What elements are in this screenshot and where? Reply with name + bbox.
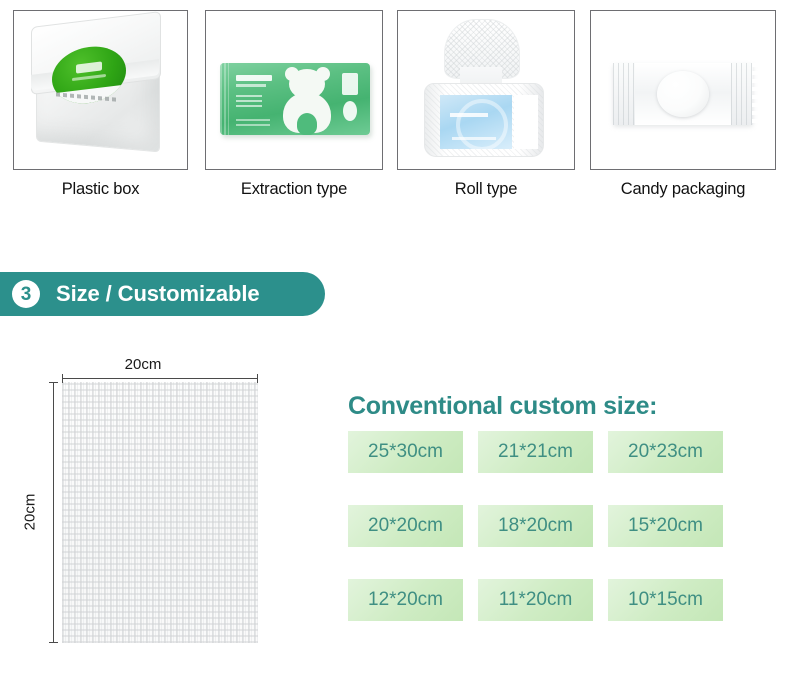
packaging-card-extraction-type[interactable] [205,10,383,170]
pack-right-oval-icon [343,101,357,121]
roll-label-face-icon [456,99,508,149]
section-title: Size / Customizable [56,281,259,307]
roll-label-title-glyph [450,113,488,117]
roll-label-subtitle-glyph [452,137,496,140]
size-chip-grid: 25*30cm 21*21cm 20*23cm 20*20cm 18*20cm … [348,431,774,621]
pack-crimp-left [220,63,229,135]
roll-blue-label [440,95,512,149]
size-chip[interactable]: 20*20cm [348,505,463,547]
packaging-card-roll-type[interactable] [397,10,575,170]
size-chip[interactable]: 21*21cm [478,431,593,473]
roll-pack-image [398,11,574,169]
extraction-pack-image [206,11,382,169]
size-chip[interactable]: 18*20cm [478,505,593,547]
extraction-pack-shape [220,63,370,135]
section-banner: 3 Size / Customizable [0,272,325,316]
height-dimension-label: 20cm [22,494,39,531]
packaging-label-extraction-type: Extraction type [198,180,390,199]
bear-belly [297,113,317,135]
size-chip[interactable]: 20*23cm [608,431,723,473]
width-dimension-line [62,378,258,379]
size-list-heading: Conventional custom size: [348,392,774,421]
packaging-card-plastic-box[interactable] [13,10,188,170]
fabric-swatch-image [62,382,258,643]
plastic-box-image [14,11,187,169]
wrapper-crimp-right [731,63,753,125]
packaging-label-roll-type: Roll type [397,180,575,199]
wrapper-crimp-left [613,63,635,125]
packaging-card-candy-packaging[interactable] [590,10,776,170]
size-chip[interactable]: 10*15cm [608,579,723,621]
pack-footer-text-glyph [236,119,270,128]
pack-body-text-glyph [236,95,262,109]
size-chip[interactable]: 25*30cm [348,431,463,473]
packaging-label-plastic-box: Plastic box [13,180,188,199]
pack-title-glyph [236,75,272,81]
pack-subtitle-glyph [236,84,266,87]
box-label-title-glyph [76,61,102,73]
width-dimension-label: 20cm [125,356,162,373]
packaging-gallery: Plastic box Extraction type [0,0,790,215]
size-chip[interactable]: 11*20cm [478,579,593,621]
size-list-panel: Conventional custom size: 25*30cm 21*21c… [344,392,774,621]
bear-silhouette-icon [276,67,338,135]
pack-right-badge-glyph [342,73,358,95]
size-chip[interactable]: 12*20cm [348,579,463,621]
section-number-badge: 3 [12,280,40,308]
candy-wrapper-image [591,11,775,169]
candy-wrapper-shape [613,63,753,125]
compressed-towel-disc [657,71,709,117]
roll-side-panel [514,95,538,149]
box-label-subtitle-glyph [72,74,106,81]
packaging-label-candy-packaging: Candy packaging [583,180,783,199]
height-dimension-line [53,382,54,643]
size-chip[interactable]: 15*20cm [608,505,723,547]
